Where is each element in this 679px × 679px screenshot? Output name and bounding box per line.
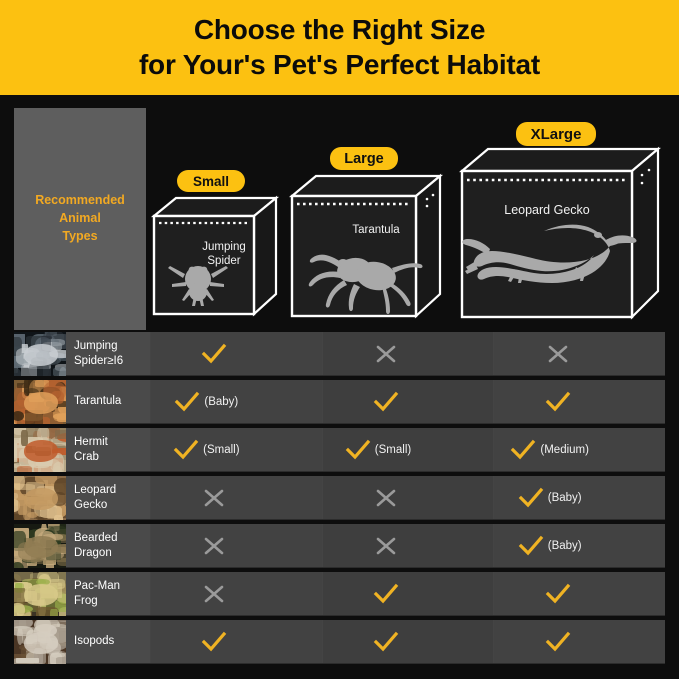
compat-cell-large <box>322 620 494 663</box>
animal-cell: Pac-Man Frog <box>14 572 150 615</box>
animal-name: Hermit Crab <box>66 435 108 463</box>
mark-group <box>373 343 399 365</box>
compat-cell-small <box>150 332 322 375</box>
check-icon <box>510 439 536 461</box>
pacman-frog-photo <box>14 572 66 616</box>
compat-cell-large: (Small) <box>322 428 494 471</box>
mark-group <box>545 631 571 653</box>
cross-icon <box>201 583 227 605</box>
badge-small[interactable]: Small <box>177 170 245 192</box>
animal-name: Isopods <box>66 634 114 648</box>
mark-group: (Baby) <box>174 391 238 413</box>
badge-large[interactable]: Large <box>330 147 398 170</box>
banner-line-1: Choose the Right Size <box>194 13 485 47</box>
compat-cell-large <box>322 332 494 375</box>
table-row: Pac-Man Frog <box>14 572 665 616</box>
size-note: (Baby) <box>548 540 582 552</box>
compat-cell-small: (Small) <box>150 428 322 471</box>
compat-cell-xlarge: (Medium) <box>493 428 665 471</box>
animal-name: Leopard Gecko <box>66 483 116 511</box>
hermit-crab-photo <box>14 428 66 472</box>
infographic-page: Choose the Right Size for Your's Pet's P… <box>0 0 679 679</box>
animal-name: Bearded Dragon <box>66 531 117 559</box>
cross-icon <box>373 343 399 365</box>
habitat-box-large-caption: Tarantula <box>336 223 416 237</box>
mark-group <box>373 535 399 557</box>
mark-group: (Small) <box>173 439 239 461</box>
compat-cell-small <box>150 620 322 663</box>
compat-cell-small <box>150 476 322 519</box>
habitat-box-small: Jumping Spider <box>148 190 283 325</box>
compat-cell-large <box>322 524 494 567</box>
size-note: (Medium) <box>540 444 589 456</box>
table-row: Bearded Dragon(Baby) <box>14 524 665 568</box>
recommended-animal-types-label: Recommended Animal Types <box>35 192 125 245</box>
check-icon <box>201 343 227 365</box>
check-icon <box>373 583 399 605</box>
check-icon <box>545 583 571 605</box>
mark-group <box>373 487 399 509</box>
mark-group <box>545 583 571 605</box>
mark-group: (Medium) <box>510 439 589 461</box>
isopods-photo <box>14 620 66 664</box>
table-row: Hermit Crab(Small)(Small)(Medium) <box>14 428 665 472</box>
compatibility-table: Jumping Spider≥I6Tarantula(Baby)Hermit C… <box>14 332 665 668</box>
animal-cell: Tarantula <box>14 380 150 423</box>
check-icon <box>201 631 227 653</box>
animal-cell: Jumping Spider≥I6 <box>14 332 150 375</box>
mark-group <box>201 583 227 605</box>
mark-group <box>545 391 571 413</box>
compat-cell-xlarge <box>493 620 665 663</box>
check-icon <box>173 439 199 461</box>
animal-cell: Hermit Crab <box>14 428 150 471</box>
compat-cell-xlarge <box>493 380 665 423</box>
check-icon <box>174 391 200 413</box>
check-icon <box>545 631 571 653</box>
mark-group <box>373 391 399 413</box>
mark-group <box>201 343 227 365</box>
banner-line-2: for Your's Pet's Perfect Habitat <box>139 48 540 82</box>
size-note: (Baby) <box>548 492 582 504</box>
bearded-dragon-photo <box>14 524 66 568</box>
leopard-gecko-photo <box>14 476 66 520</box>
check-icon <box>345 439 371 461</box>
habitat-box-xlarge: Leopard Gecko <box>456 139 666 329</box>
compat-cell-small: (Baby) <box>150 380 322 423</box>
animal-name: Jumping Spider≥I6 <box>66 339 123 367</box>
mark-group <box>201 487 227 509</box>
compat-cell-small <box>150 572 322 615</box>
cross-icon <box>201 487 227 509</box>
habitat-box-small-caption: Jumping Spider <box>188 240 260 268</box>
mark-group <box>201 631 227 653</box>
check-icon <box>373 631 399 653</box>
check-icon <box>545 391 571 413</box>
jumping-spider-photo <box>14 332 66 376</box>
habitat-box-large: Tarantula <box>286 166 446 328</box>
animal-cell: Isopods <box>14 620 150 663</box>
cross-icon <box>373 487 399 509</box>
compat-cell-small <box>150 524 322 567</box>
check-icon <box>518 487 544 509</box>
habitat-box-xlarge-caption: Leopard Gecko <box>482 203 612 218</box>
mark-group: (Small) <box>345 439 411 461</box>
compat-cell-large <box>322 380 494 423</box>
recommended-animal-types-panel: Recommended Animal Types <box>14 108 146 330</box>
header-banner: Choose the Right Size for Your's Pet's P… <box>0 0 679 95</box>
cross-icon <box>201 535 227 557</box>
size-note: (Small) <box>203 444 239 456</box>
mark-group <box>373 583 399 605</box>
table-row: Tarantula(Baby) <box>14 380 665 424</box>
mark-group <box>545 343 571 365</box>
table-row: Jumping Spider≥I6 <box>14 332 665 376</box>
size-note: (Baby) <box>204 396 238 408</box>
table-row: Leopard Gecko(Baby) <box>14 476 665 520</box>
animal-cell: Leopard Gecko <box>14 476 150 519</box>
table-row: Isopods <box>14 620 665 664</box>
badge-xlarge[interactable]: XLarge <box>516 122 596 146</box>
cross-icon <box>545 343 571 365</box>
compat-cell-xlarge: (Baby) <box>493 476 665 519</box>
compat-cell-xlarge <box>493 332 665 375</box>
check-icon <box>518 535 544 557</box>
cross-icon <box>373 535 399 557</box>
compat-cell-large <box>322 572 494 615</box>
animal-name: Tarantula <box>66 394 121 408</box>
compat-cell-large <box>322 476 494 519</box>
tarantula-photo <box>14 380 66 424</box>
size-chart-hero: Recommended Animal Types <box>14 108 665 330</box>
mark-group <box>201 535 227 557</box>
mark-group: (Baby) <box>518 535 582 557</box>
check-icon <box>373 391 399 413</box>
animal-cell: Bearded Dragon <box>14 524 150 567</box>
animal-name: Pac-Man Frog <box>66 579 120 607</box>
mark-group: (Baby) <box>518 487 582 509</box>
compat-cell-xlarge <box>493 572 665 615</box>
mark-group <box>373 631 399 653</box>
size-note: (Small) <box>375 444 411 456</box>
compat-cell-xlarge: (Baby) <box>493 524 665 567</box>
